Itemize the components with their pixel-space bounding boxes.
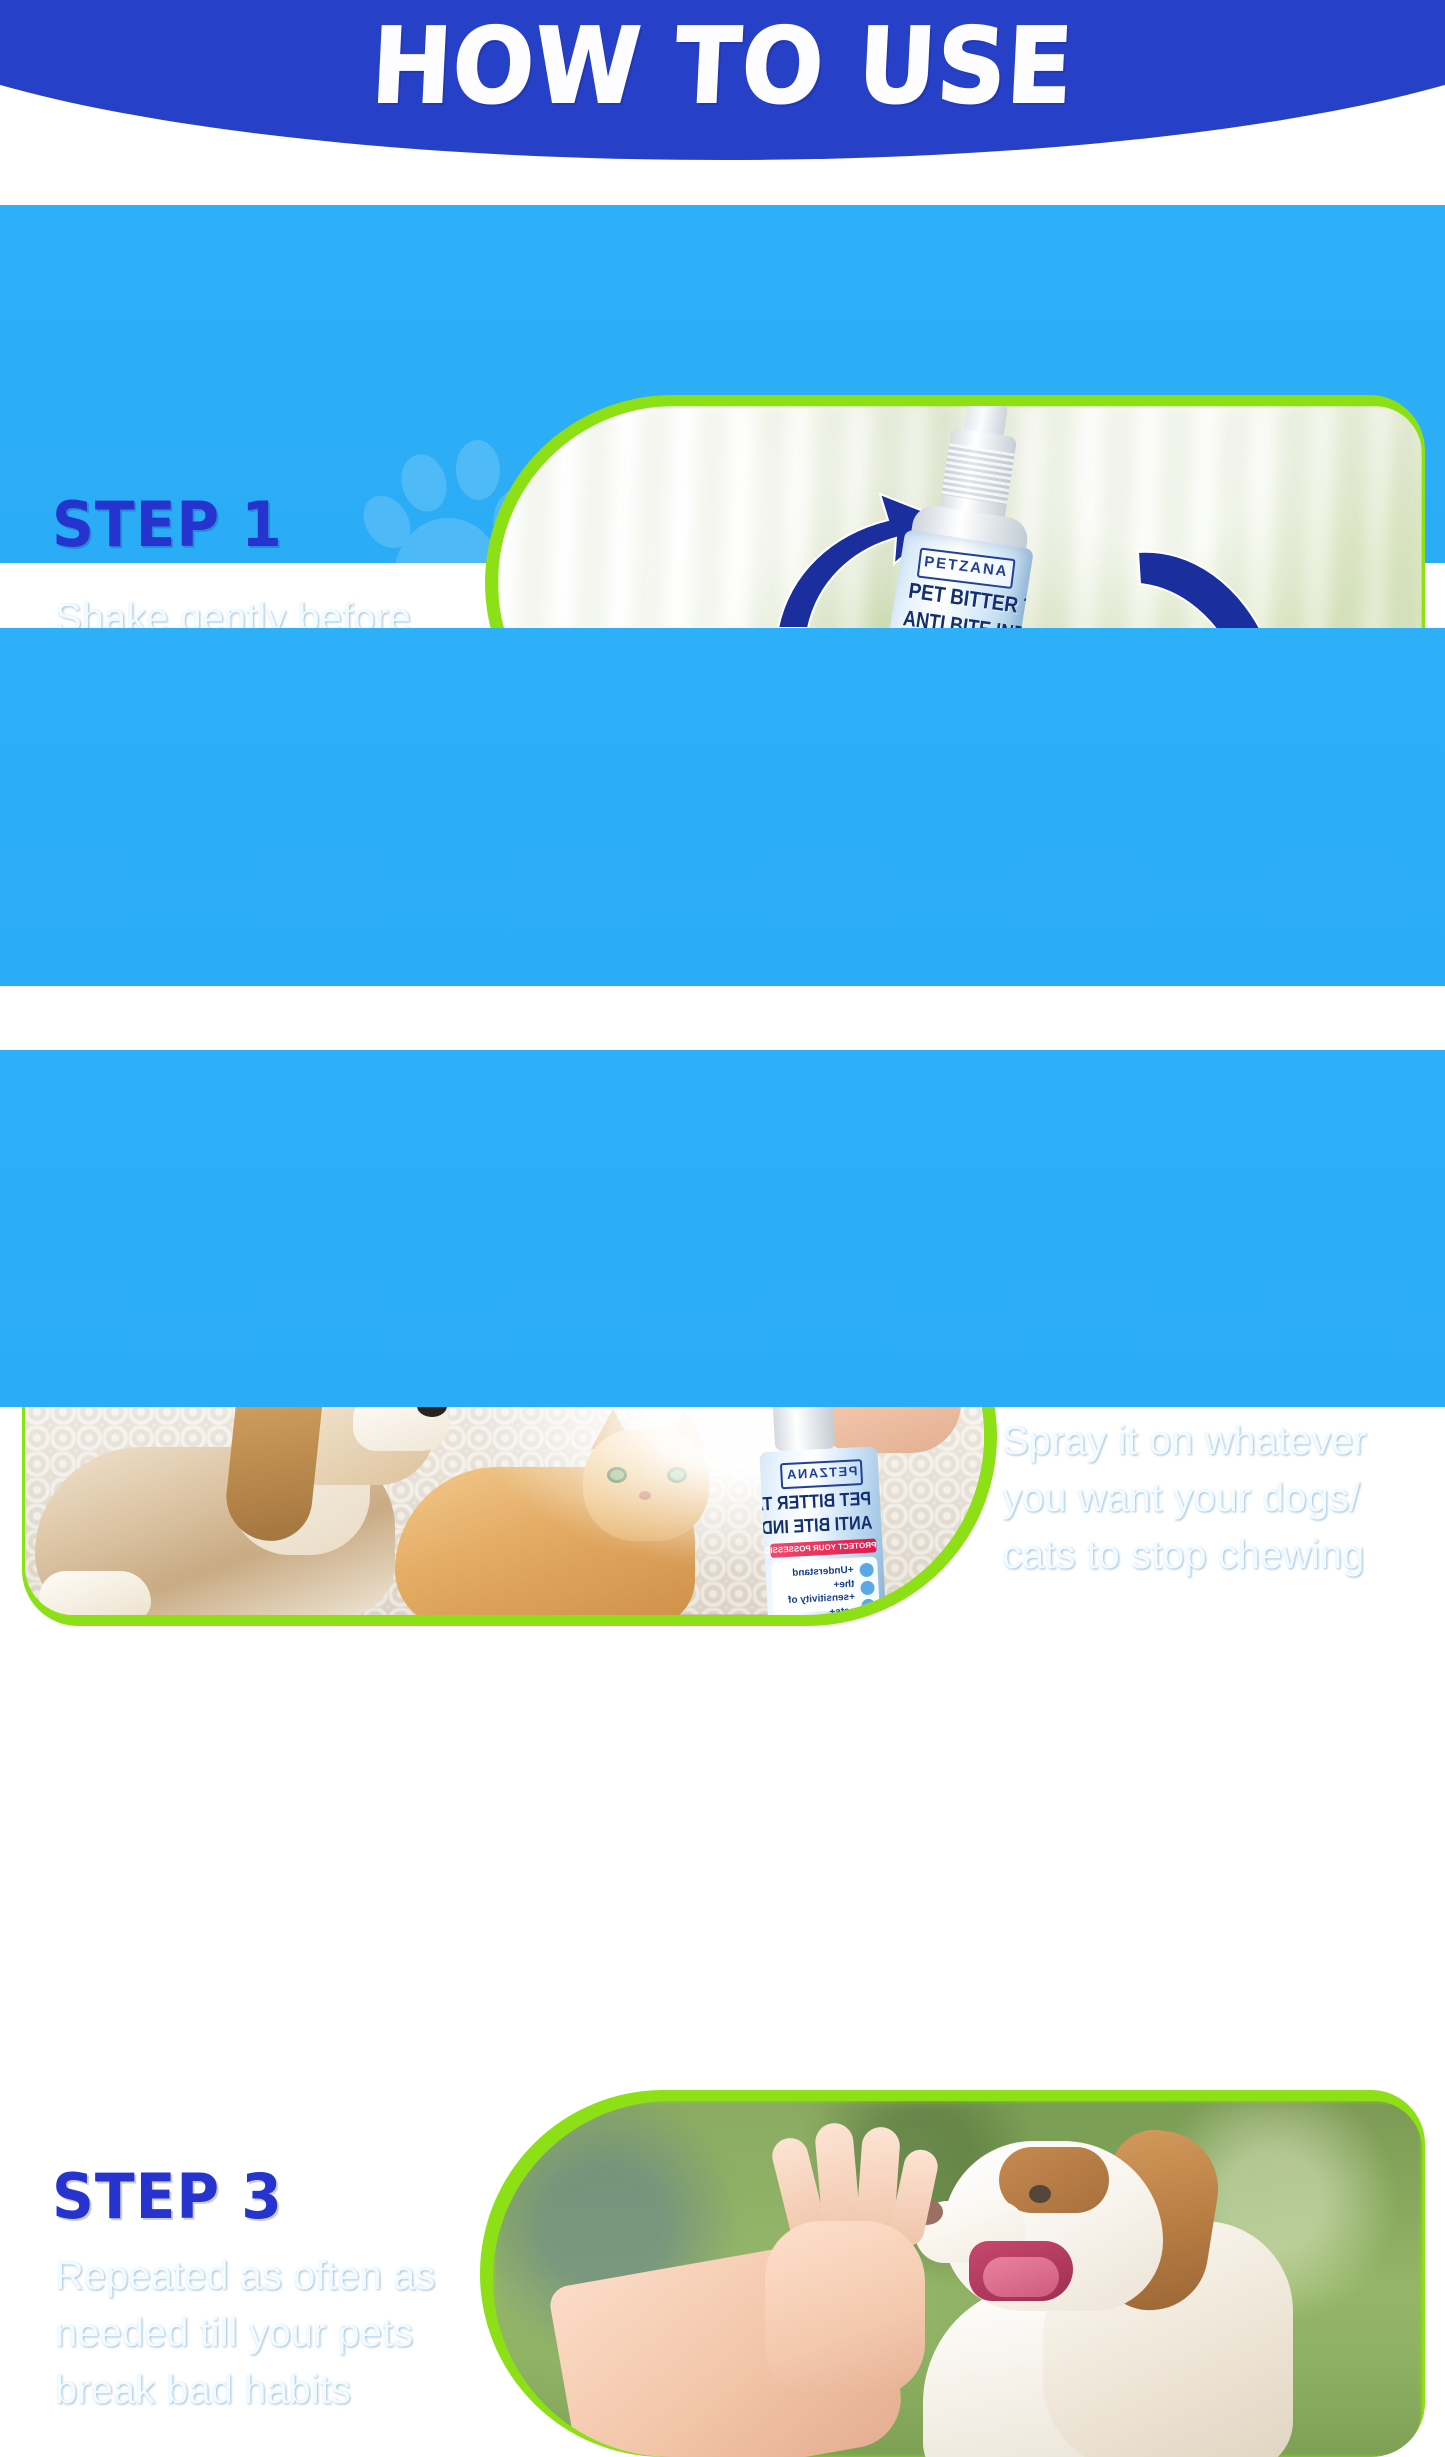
step-panel-1: STEP 1 Shake gently before use <box>0 205 1445 565</box>
step-2-blue-band <box>0 628 1445 986</box>
step-3-blue-band <box>0 1050 1445 1407</box>
bottle-brand: PETZANA <box>780 1459 863 1489</box>
step-3-title: STEP 3 <box>52 2160 283 2233</box>
step-panel-3: STEP 3 Repeated as often as needed till … <box>0 1050 1445 1407</box>
bottle-feature-icons <box>859 1563 876 1615</box>
page-title: HOW TO USE <box>55 14 1389 118</box>
dog-eye <box>1029 2185 1051 2203</box>
step-3-body: Repeated as often as needed till your pe… <box>55 2248 515 2418</box>
step-1-title: STEP 1 <box>52 488 283 561</box>
step-2-body: Spray it on whatever you want your dogs/… <box>1002 1413 1442 1583</box>
dog-paw <box>39 1571 151 1615</box>
hand-palm <box>765 2221 925 2396</box>
feature-dot-icon <box>860 1581 875 1596</box>
bottle-label-line1: PET BITTER TASTE <box>770 1489 871 1516</box>
bottle-subtext: +Understand the+ +sensitivity of pets+ <box>773 1564 856 1615</box>
feature-dot-icon <box>861 1599 876 1614</box>
header-banner: HOW TO USE <box>0 0 1445 200</box>
bottle-sub-line1: +Understand the+ <box>773 1564 854 1595</box>
bottle-sub-line2: +sensitivity of pets+ <box>775 1591 856 1615</box>
bottle-label-line2: ANTI BITE INDUCER <box>772 1513 873 1540</box>
bottle-body: PETZANA PET BITTER TASTE ANTI BITE INDUC… <box>759 1446 887 1615</box>
step-3-image-plate <box>480 2090 1425 2457</box>
bottle-red-banner: PROTECT YOUR POSSESSIONS <box>770 1538 877 1558</box>
feature-dot-icon <box>859 1563 874 1578</box>
step-panel-2: STEP 2 Spray it on whatever you want you… <box>0 628 1445 990</box>
dog-brow-patch <box>999 2147 1109 2213</box>
dog-tongue <box>983 2257 1059 2297</box>
step-3-scene <box>493 2101 1422 2457</box>
